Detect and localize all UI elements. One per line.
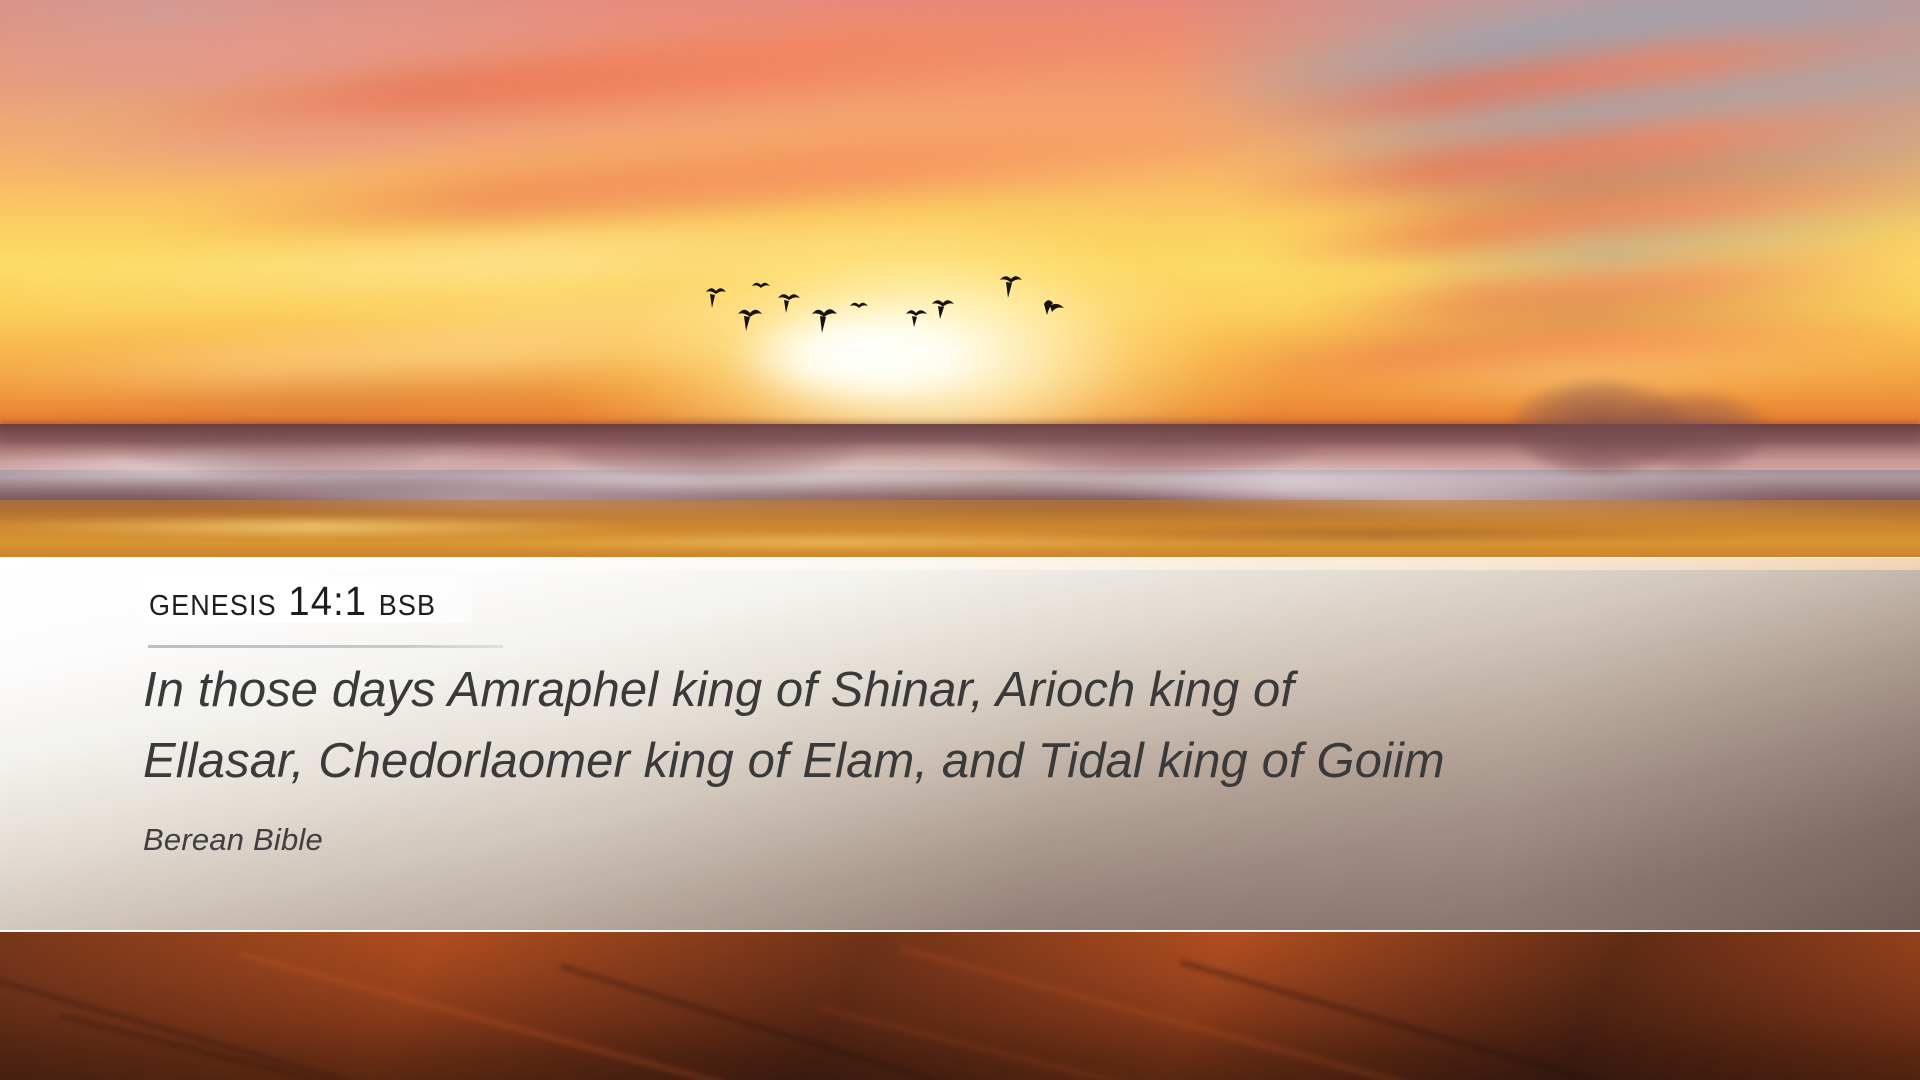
verse-image-canvas: Genesis 14:1 BSB In those days Amraphel …: [0, 0, 1920, 1080]
verse-reference: Genesis 14:1 BSB: [149, 580, 436, 623]
verse-text: In those days Amraphel king of Shinar, A…: [143, 655, 1843, 797]
verse-line-1: In those days Amraphel king of Shinar, A…: [143, 655, 1843, 726]
verse-text-layer: Genesis 14:1 BSB In those days Amraphel …: [0, 0, 1920, 1080]
reference-underline-rule: [148, 645, 503, 648]
verse-line-2: Ellasar, Chedorlaomer king of Elam, and …: [143, 726, 1843, 797]
verse-attribution: Berean Bible: [143, 822, 323, 858]
verse-reference-badge: Genesis 14:1 BSB: [143, 577, 472, 623]
